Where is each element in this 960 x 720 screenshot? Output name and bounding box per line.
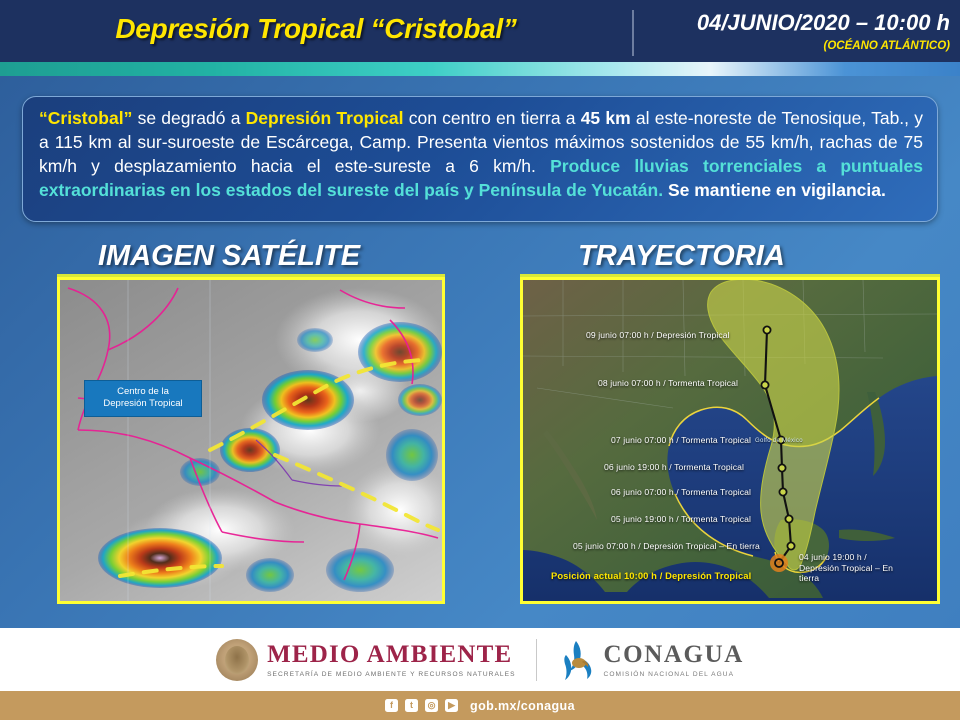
conagua-icon-svg bbox=[557, 639, 595, 681]
footer-divider bbox=[536, 639, 537, 681]
mexico-eagle-seal-icon bbox=[216, 639, 258, 681]
current-position-label: Posición actual 10:00 h / Depresión Trop… bbox=[551, 570, 751, 581]
satellite-imagery: Centro de la Depresión Tropical bbox=[60, 280, 442, 601]
forecast-label-08jun: 08 junio 07:00 h / Tormenta Tropical bbox=[598, 378, 738, 388]
conagua-water-eagle-icon bbox=[557, 639, 595, 681]
bulletin-watch-note: Se mantiene en vigilancia. bbox=[663, 180, 886, 200]
trajectory-map: Golfo de México 09 junio 07:00 h / Depre… bbox=[523, 280, 937, 601]
semarnat-subtitle: SECRETARÍA DE MEDIO AMBIENTE Y RECURSOS … bbox=[267, 671, 515, 678]
bulletin-category: Depresión Tropical bbox=[246, 108, 404, 128]
bulletin-storm-name: “Cristobal” bbox=[39, 108, 132, 128]
footer-social-bar: f t ◎ ▶ gob.mx/conagua bbox=[0, 691, 960, 720]
gob-url-label[interactable]: gob.mx/conagua bbox=[470, 699, 575, 713]
trajectory-map-panel[interactable]: Golfo de México 09 junio 07:00 h / Depre… bbox=[520, 277, 940, 604]
forecast-label-04jun-19: 04 junio 19:00 h / Depresión Tropical – … bbox=[799, 552, 907, 584]
header-bar: Depresión Tropical “Cristobal” 04/JUNIO/… bbox=[0, 0, 960, 62]
bulletin-datetime: 04/JUNIO/2020 – 10:00 h bbox=[697, 10, 950, 36]
forecast-label-06jun-07: 06 junio 07:00 h / Tormenta Tropical bbox=[611, 487, 751, 497]
satellite-section-title: IMAGEN SATÉLITE bbox=[98, 240, 360, 273]
satellite-image-panel[interactable]: Centro de la Depresión Tropical bbox=[57, 277, 445, 604]
bulletin-distance: 45 km bbox=[581, 108, 631, 128]
conagua-logo: CONAGUA COMISIÓN NACIONAL DEL AGUA bbox=[557, 639, 744, 681]
forecast-label-06jun-19: 06 junio 19:00 h / Tormenta Tropical bbox=[604, 462, 744, 472]
youtube-icon[interactable]: ▶ bbox=[445, 699, 458, 712]
conagua-title: CONAGUA bbox=[604, 642, 744, 667]
conagua-subtitle: COMISIÓN NACIONAL DEL AGUA bbox=[604, 671, 744, 678]
satellite-center-callout: Centro de la Depresión Tropical bbox=[84, 380, 202, 417]
satellite-center-line1: Centro de la bbox=[92, 386, 194, 398]
trajectory-section-title: TRAYECTORIA bbox=[578, 240, 785, 273]
header-meta-area: 04/JUNIO/2020 – 10:00 h (OCÉANO ATLÁNTIC… bbox=[634, 0, 960, 62]
bulletin-text-2: con centro en tierra a bbox=[404, 108, 581, 128]
forecast-label-05jun-07: 05 junio 07:00 h / Depresión Tropical – … bbox=[573, 541, 760, 551]
instagram-icon[interactable]: ◎ bbox=[425, 699, 438, 712]
bulletin-text-1: se degradó a bbox=[132, 108, 245, 128]
forecast-label-07jun: 07 junio 07:00 h / Tormenta Tropical bbox=[611, 435, 751, 445]
footer-logos: MEDIO AMBIENTE SECRETARÍA DE MEDIO AMBIE… bbox=[0, 628, 960, 691]
semarnat-title: MEDIO AMBIENTE bbox=[267, 642, 515, 667]
ocean-basin-label: (OCÉANO ATLÁNTICO) bbox=[824, 40, 950, 52]
semarnat-logo: MEDIO AMBIENTE SECRETARÍA DE MEDIO AMBIE… bbox=[216, 639, 515, 681]
gulf-of-mexico-label: Golfo de México bbox=[755, 438, 803, 444]
header-title-area: Depresión Tropical “Cristobal” bbox=[0, 0, 632, 62]
satellite-overlay-graphics bbox=[60, 280, 442, 601]
storm-title: Depresión Tropical “Cristobal” bbox=[115, 13, 516, 45]
satellite-center-line2: Depresión Tropical bbox=[92, 398, 194, 410]
bulletin-text-panel: “Cristobal” se degradó a Depresión Tropi… bbox=[22, 96, 938, 222]
forecast-label-05jun-19: 05 junio 19:00 h / Tormenta Tropical bbox=[611, 514, 751, 524]
forecast-label-09jun: 09 junio 07:00 h / Depresión Tropical bbox=[586, 330, 730, 340]
accent-gradient-bar bbox=[0, 62, 960, 76]
twitter-icon[interactable]: t bbox=[405, 699, 418, 712]
facebook-icon[interactable]: f bbox=[385, 699, 398, 712]
